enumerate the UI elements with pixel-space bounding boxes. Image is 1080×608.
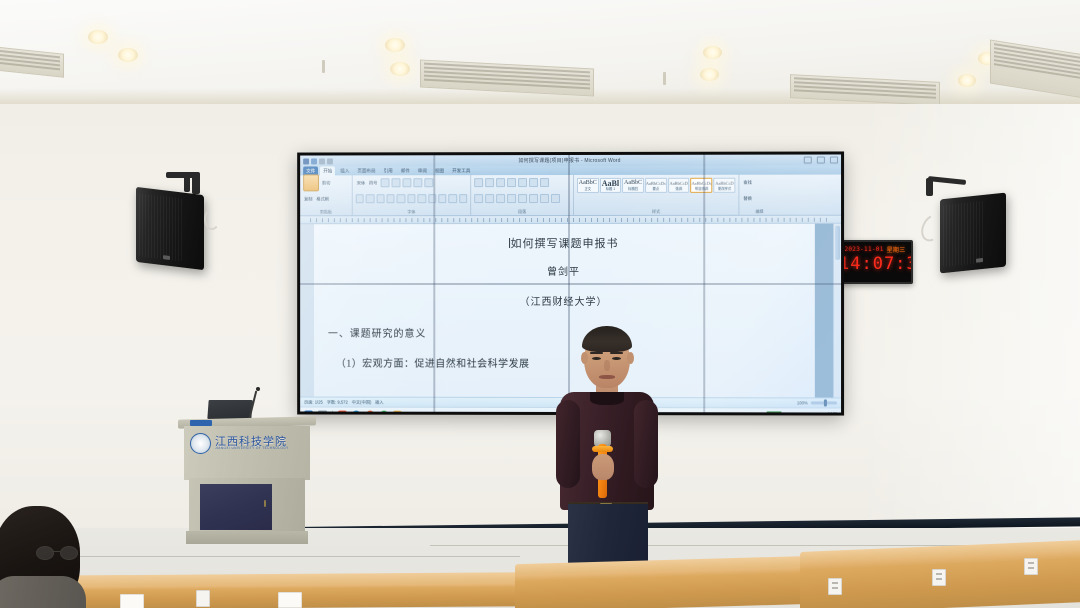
presenter-eye-right <box>612 357 621 360</box>
group-label-styles: 样式 <box>577 209 735 215</box>
presenter-brow-left <box>590 352 603 354</box>
distribute-icon[interactable] <box>518 194 527 203</box>
group-label-paragraph: 段落 <box>474 209 570 215</box>
close-icon[interactable] <box>830 156 838 163</box>
presenter-trousers <box>568 504 648 568</box>
wall-speaker-left <box>128 172 232 276</box>
group-label-clipboard: 剪贴板 <box>303 209 349 215</box>
text-highlight-icon[interactable] <box>428 194 436 203</box>
zoom-slider[interactable] <box>811 401 837 404</box>
text-effects-icon[interactable] <box>418 194 426 203</box>
grow-font-icon[interactable] <box>380 178 389 187</box>
status-words[interactable]: 字数: 9,572 <box>327 399 348 405</box>
downlight-icon <box>88 30 108 44</box>
replace-label[interactable]: 替换 <box>742 195 752 201</box>
style-preview: AaBbC <box>578 180 598 187</box>
style-normal[interactable]: AaBbC 正文 <box>577 178 599 193</box>
tab-developer[interactable]: 开发工具 <box>449 166 473 175</box>
front-wall-highlight <box>860 104 1080 544</box>
tab-insert[interactable]: 插入 <box>337 166 352 175</box>
word-document-title: 如何撰写课题(项目)申报书 - Microsoft Word <box>300 156 841 164</box>
led-wall-clock: 2023-11-01 星期三 14:07:30 <box>837 240 913 284</box>
paste-icon[interactable] <box>303 174 319 191</box>
lectern-podium: 江西科技学院 JIANGXI UNIVERSITY OF TECHNOLOGY <box>178 418 318 546</box>
ribbon-group-styles[interactable]: AaBbC 正文 AaBl 标题 1 AaBbC 标题四 AaBbCcDc <box>574 175 739 215</box>
document-scrollbar[interactable] <box>833 224 841 398</box>
style-preview: AaBbCcD <box>669 180 689 187</box>
presenter-nose <box>604 360 610 371</box>
downlight-icon <box>118 48 138 62</box>
speaker-cabinet <box>136 187 204 270</box>
presenter-mouth <box>599 375 615 379</box>
presenter-hand <box>592 454 614 480</box>
text-caret <box>509 238 510 248</box>
align-right-icon[interactable] <box>496 194 505 203</box>
speaker-logo <box>976 258 983 263</box>
doc-title: 如何撰写课题申报书 <box>511 238 619 250</box>
borders-icon[interactable] <box>551 194 560 203</box>
style-preview: AaBl <box>601 180 621 187</box>
style-name: 标题四 <box>623 187 643 192</box>
style-intense-emphasis[interactable]: AaBbCcDc 明显强调 <box>691 178 713 193</box>
desk-power-outlet[interactable] <box>932 569 946 586</box>
decrease-indent-icon[interactable] <box>507 178 516 187</box>
clipboard-row-2[interactable]: 复制 格式刷 <box>303 193 349 204</box>
audience-member-glasses <box>36 546 76 559</box>
audience-desk-front-right <box>515 567 815 608</box>
audience-member-shoulder <box>0 576 86 608</box>
paragraph-shading-icon[interactable] <box>540 194 549 203</box>
downlight-icon <box>703 46 722 59</box>
presenter-hair <box>582 326 632 352</box>
word-title-bar: 如何撰写课题(项目)申报书 - Microsoft Word <box>300 154 841 166</box>
presenter-collar <box>590 392 624 405</box>
status-zoom-level[interactable]: 100% <box>797 400 808 405</box>
increase-indent-icon[interactable] <box>518 178 527 187</box>
status-right-cluster[interactable]: 100% <box>797 400 837 405</box>
task-view-icon[interactable] <box>318 410 327 412</box>
taskbar-time: 14:06 <box>828 411 837 412</box>
style-preview: AaBbC <box>623 180 643 187</box>
styles-gallery[interactable]: AaBbC 正文 AaBl 标题 1 AaBbC 标题四 AaBbCcDc <box>577 177 735 193</box>
style-preview: AaBbCcDc <box>646 180 666 187</box>
university-plaque: 江西科技学院 JIANGXI UNIVERSITY OF TECHNOLOGY <box>190 430 298 456</box>
microphone-ring <box>592 446 613 452</box>
ribbon-group-paragraph[interactable]: 段落 <box>471 175 574 215</box>
speaker-cabinet <box>940 193 1006 274</box>
desk-name-card <box>278 592 302 608</box>
podium-door-handle[interactable] <box>264 500 266 507</box>
tab-mailings[interactable]: 邮件 <box>398 166 413 175</box>
speaker-grille <box>139 193 181 261</box>
university-seal-icon <box>190 433 211 454</box>
phonetic-guide-icon[interactable] <box>413 178 422 187</box>
italic-icon[interactable] <box>366 194 374 203</box>
speaker-bracket <box>926 178 933 196</box>
presenter-eye-left <box>592 357 601 360</box>
minimize-icon[interactable] <box>804 157 812 164</box>
numbering-icon[interactable] <box>485 178 494 187</box>
style-preview: AaBbCcDc <box>692 180 712 187</box>
podium-laptop[interactable] <box>207 400 252 419</box>
format-painter-label[interactable]: 格式刷 <box>315 196 329 202</box>
podium-front-panel <box>200 484 272 530</box>
wall-speaker-right <box>918 176 1022 280</box>
system-tray[interactable]: 92% 14:06 2023/11/1 <box>767 411 837 413</box>
style-name: 强调 <box>669 187 689 192</box>
style-heading-4[interactable]: AaBbC 标题四 <box>622 178 644 193</box>
style-name: 明显强调 <box>692 187 712 192</box>
style-preview: AaBbCcD <box>715 180 735 187</box>
style-name: 要点 <box>646 187 666 192</box>
change-case-icon[interactable] <box>402 178 411 187</box>
find-label[interactable]: 查找 <box>742 179 752 185</box>
lecture-hall-photo: 2023-11-01 星期三 14:07:30 如何撰写课题(项目)申报书 - … <box>0 0 1080 608</box>
sprinkler-head-icon <box>322 60 325 73</box>
battery-icon[interactable]: 92% <box>767 411 782 413</box>
edge-icon[interactable] <box>352 410 361 412</box>
clock-date-row: 2023-11-01 星期三 <box>839 245 911 254</box>
justify-icon[interactable] <box>507 194 516 203</box>
doc-author: 曾剑平 <box>314 267 815 279</box>
subscript-icon[interactable] <box>397 194 405 203</box>
start-icon[interactable] <box>304 410 313 413</box>
style-heading-1[interactable]: AaBl 标题 1 <box>600 178 622 193</box>
character-border-icon[interactable] <box>459 194 467 203</box>
superscript-icon[interactable] <box>407 194 415 203</box>
bullets-icon[interactable] <box>474 178 483 187</box>
sort-icon[interactable] <box>529 178 538 187</box>
status-language[interactable]: 中文(中国) <box>352 399 371 405</box>
style-keypoint[interactable]: AaBbCcDc 要点 <box>645 178 667 193</box>
underline-icon[interactable] <box>376 194 384 203</box>
taskbar-divider <box>332 411 333 413</box>
desk-power-outlet[interactable] <box>828 578 842 595</box>
wps-icon[interactable] <box>338 410 347 412</box>
presenter-ear-left <box>581 352 588 364</box>
ruler-scale <box>310 217 831 221</box>
speaker-bracket <box>192 174 200 194</box>
downlight-icon <box>958 74 976 87</box>
ribbon-group-clipboard[interactable]: 剪切 复制 格式刷 剪贴板 <box>300 175 353 215</box>
desk-name-card <box>120 594 144 608</box>
university-name-block: 江西科技学院 JIANGXI UNIVERSITY OF TECHNOLOGY <box>215 436 289 451</box>
doc-title-line: 如何撰写课题申报书 <box>314 238 815 251</box>
style-emphasis[interactable]: AaBbCcD 强调 <box>668 178 690 193</box>
copy-label[interactable]: 复制 <box>303 196 313 202</box>
gooseneck-microphone-head-icon <box>256 387 260 391</box>
word-ribbon[interactable]: 剪切 复制 格式刷 剪贴板 宋体 四号 <box>300 175 841 217</box>
speaker-grille <box>943 201 984 267</box>
style-name: 更改样式 <box>715 187 735 192</box>
restore-icon[interactable] <box>817 157 825 164</box>
speaker-bracket <box>184 174 190 192</box>
university-name-en: JIANGXI UNIVERSITY OF TECHNOLOGY <box>215 447 289 450</box>
character-shading-icon[interactable] <box>448 194 456 203</box>
clear-formatting-icon[interactable] <box>424 178 433 187</box>
font-size-select[interactable]: 四号 <box>368 180 378 186</box>
presenter-arm-right <box>634 400 658 488</box>
file-explorer-icon[interactable] <box>394 410 403 412</box>
paragraph-row-1[interactable] <box>474 177 570 188</box>
speaker-logo <box>163 255 170 260</box>
firefox-icon[interactable] <box>366 410 375 412</box>
status-input-mode[interactable]: 插入 <box>375 399 383 405</box>
wechat-icon[interactable] <box>380 410 389 412</box>
style-name: 正文 <box>578 187 598 192</box>
line-spacing-icon[interactable] <box>529 194 538 203</box>
glasses-lens-left <box>36 546 54 560</box>
font-row-1[interactable]: 宋体 四号 <box>356 177 467 188</box>
strikethrough-icon[interactable] <box>387 194 395 203</box>
shrink-font-icon[interactable] <box>391 178 400 187</box>
align-center-icon[interactable] <box>485 194 494 203</box>
desk-power-outlet[interactable] <box>1024 558 1038 575</box>
font-color-icon[interactable] <box>438 194 446 203</box>
align-left-icon[interactable] <box>474 194 483 203</box>
presenter <box>552 326 664 572</box>
editing-row-1[interactable]: 查找 <box>742 177 776 188</box>
ribbon-group-editing[interactable]: 查找 替换 编辑 <box>739 175 779 215</box>
speaker-cable <box>204 208 220 230</box>
ribbon-group-font[interactable]: 宋体 四号 <box>353 175 471 215</box>
font-family-select[interactable]: 宋体 <box>356 180 366 186</box>
editing-row-2[interactable]: 替换 <box>742 193 776 204</box>
desk-power-outlet[interactable] <box>196 590 210 607</box>
clock-date: 2023-11-01 <box>844 246 883 253</box>
tab-home[interactable]: 开始 <box>320 166 335 175</box>
paragraph-row-2[interactable] <box>474 193 570 204</box>
downlight-icon <box>385 38 405 52</box>
tab-review[interactable]: 审阅 <box>415 166 430 175</box>
tab-view[interactable]: 视图 <box>432 166 447 175</box>
multilevel-list-icon[interactable] <box>496 178 505 187</box>
group-label-font: 字体 <box>356 209 467 215</box>
clock-time: 14:07:30 <box>839 254 911 274</box>
downlight-icon <box>390 62 410 76</box>
clock-weekday: 星期三 <box>887 245 906 254</box>
show-marks-icon[interactable] <box>540 178 549 187</box>
speaker-bracket <box>928 176 966 185</box>
taskbar-clock[interactable]: 14:06 2023/11/1 <box>821 411 837 412</box>
font-row-2[interactable] <box>356 193 467 204</box>
presenter-ear-right <box>627 352 634 364</box>
glasses-lens-right <box>60 546 78 560</box>
presenter-brow-right <box>610 352 623 354</box>
presenter-arm-left <box>556 400 580 488</box>
bold-icon[interactable] <box>356 194 364 203</box>
clipboard-row-1[interactable]: 剪切 <box>303 177 349 188</box>
window-controls[interactable] <box>804 156 838 163</box>
style-change-styles[interactable]: AaBbCcD 更改样式 <box>714 178 736 193</box>
cut-label[interactable]: 剪切 <box>321 180 331 186</box>
word-vertical-ruler <box>300 224 314 396</box>
glasses-bridge <box>52 551 60 552</box>
tab-references[interactable]: 引用 <box>381 166 396 175</box>
podium-base <box>186 531 308 544</box>
group-label-editing: 编辑 <box>742 209 776 215</box>
tab-page-layout[interactable]: 页面布局 <box>354 166 378 175</box>
status-page[interactable]: 页面: 1/25 <box>304 399 323 405</box>
podium-label-strip <box>190 420 212 426</box>
sprinkler-head-icon <box>663 72 666 85</box>
doc-affiliation: （江西财经大学） <box>314 297 815 309</box>
scrollbar-thumb[interactable] <box>835 226 840 260</box>
downlight-icon <box>700 68 719 81</box>
